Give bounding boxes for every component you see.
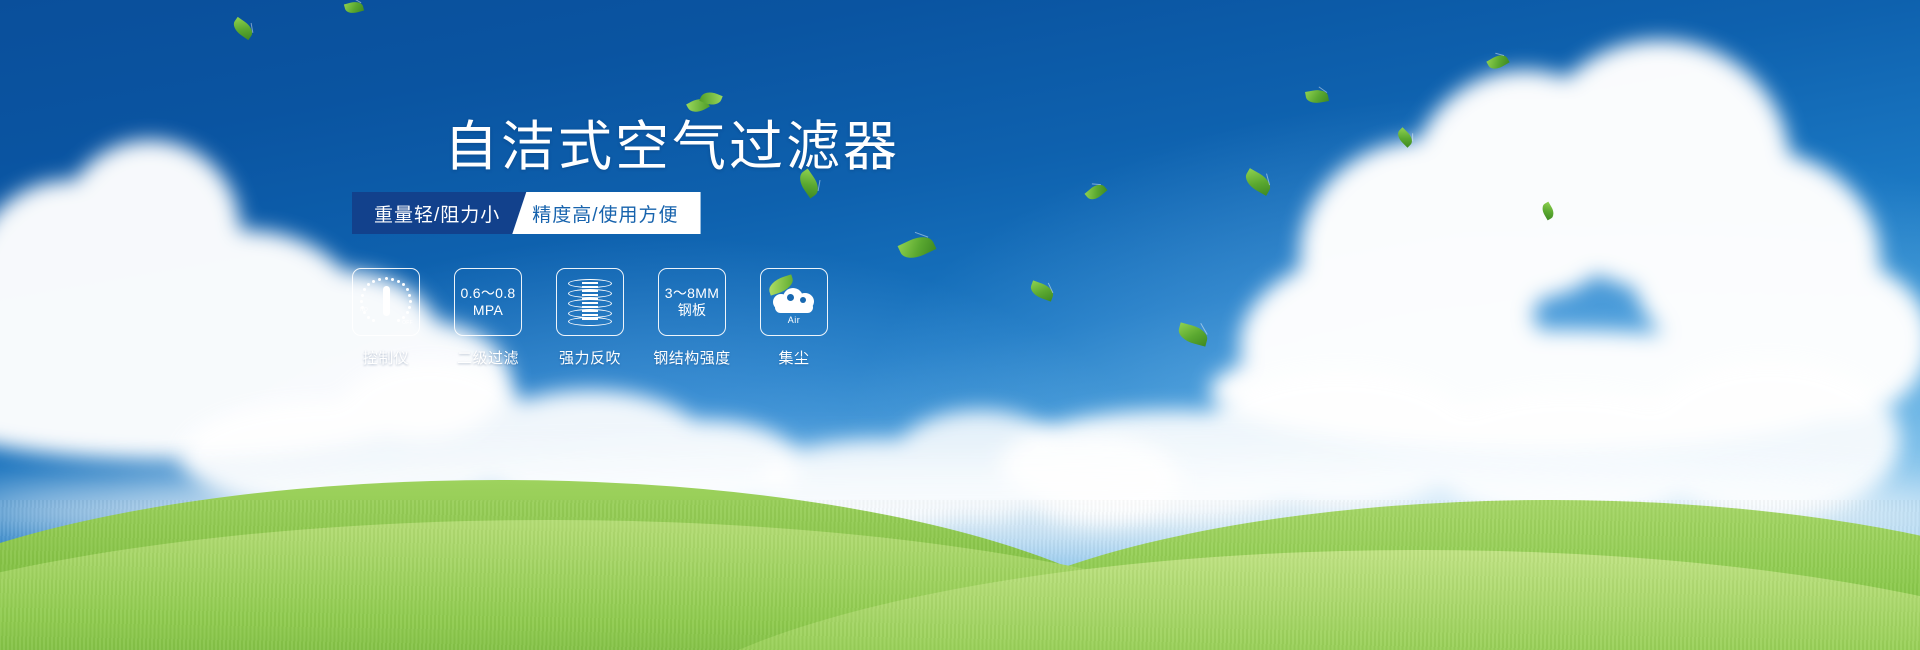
tag-precision[interactable]: 精度高/使用方便 bbox=[512, 192, 700, 234]
feature-icon-box: Air bbox=[760, 268, 828, 336]
feature-icon-row: NO OFF 控制仪 0.6～0.8 MPA 二级过滤 bbox=[352, 268, 828, 368]
cloud-air-icon: Air bbox=[771, 282, 817, 322]
pressure-unit: MPA bbox=[473, 302, 503, 319]
feature-label: 控制仪 bbox=[363, 347, 410, 368]
page-title: 自洁式空气过滤器 bbox=[352, 118, 992, 176]
feature-item-dust[interactable]: Air 集尘 bbox=[760, 268, 828, 368]
feature-icon-box: NO OFF bbox=[352, 268, 420, 336]
gauge-off-label: OFF bbox=[402, 320, 413, 326]
banner-content: 自洁式空气过滤器 重量轻/阻力小 精度高/使用方便 bbox=[0, 0, 1150, 650]
pressure-value: 0.6～0.8 bbox=[460, 285, 515, 302]
feature-icon-box bbox=[556, 268, 624, 336]
feature-item-filter[interactable]: 0.6～0.8 MPA 二级过滤 bbox=[454, 268, 522, 368]
title-leaf-icon bbox=[688, 92, 722, 114]
gauge-icon: NO OFF bbox=[361, 277, 411, 327]
coil-icon bbox=[568, 278, 612, 326]
feature-item-steel[interactable]: 3～8MM 钢板 钢结构强度 bbox=[658, 268, 726, 368]
promo-banner: 自洁式空气过滤器 重量轻/阻力小 精度高/使用方便 bbox=[0, 0, 1920, 650]
air-label: Air bbox=[771, 315, 817, 325]
feature-label: 集尘 bbox=[778, 347, 809, 368]
steel-thickness: 3～8MM bbox=[665, 285, 719, 302]
feature-label: 二级过滤 bbox=[457, 347, 519, 368]
tag-lightweight[interactable]: 重量轻/阻力小 bbox=[352, 192, 526, 234]
feature-icon-box: 3～8MM 钢板 bbox=[658, 268, 726, 336]
feature-icon-box: 0.6～0.8 MPA bbox=[454, 268, 522, 336]
feature-label: 强力反吹 bbox=[559, 347, 621, 368]
gauge-no-label: NO bbox=[360, 307, 368, 313]
steel-material: 钢板 bbox=[678, 302, 707, 319]
feature-item-blowback[interactable]: 强力反吹 bbox=[556, 268, 624, 368]
tag-row: 重量轻/阻力小 精度高/使用方便 bbox=[352, 192, 701, 234]
feature-label: 钢结构强度 bbox=[653, 347, 731, 368]
feature-item-control[interactable]: NO OFF 控制仪 bbox=[352, 268, 420, 368]
